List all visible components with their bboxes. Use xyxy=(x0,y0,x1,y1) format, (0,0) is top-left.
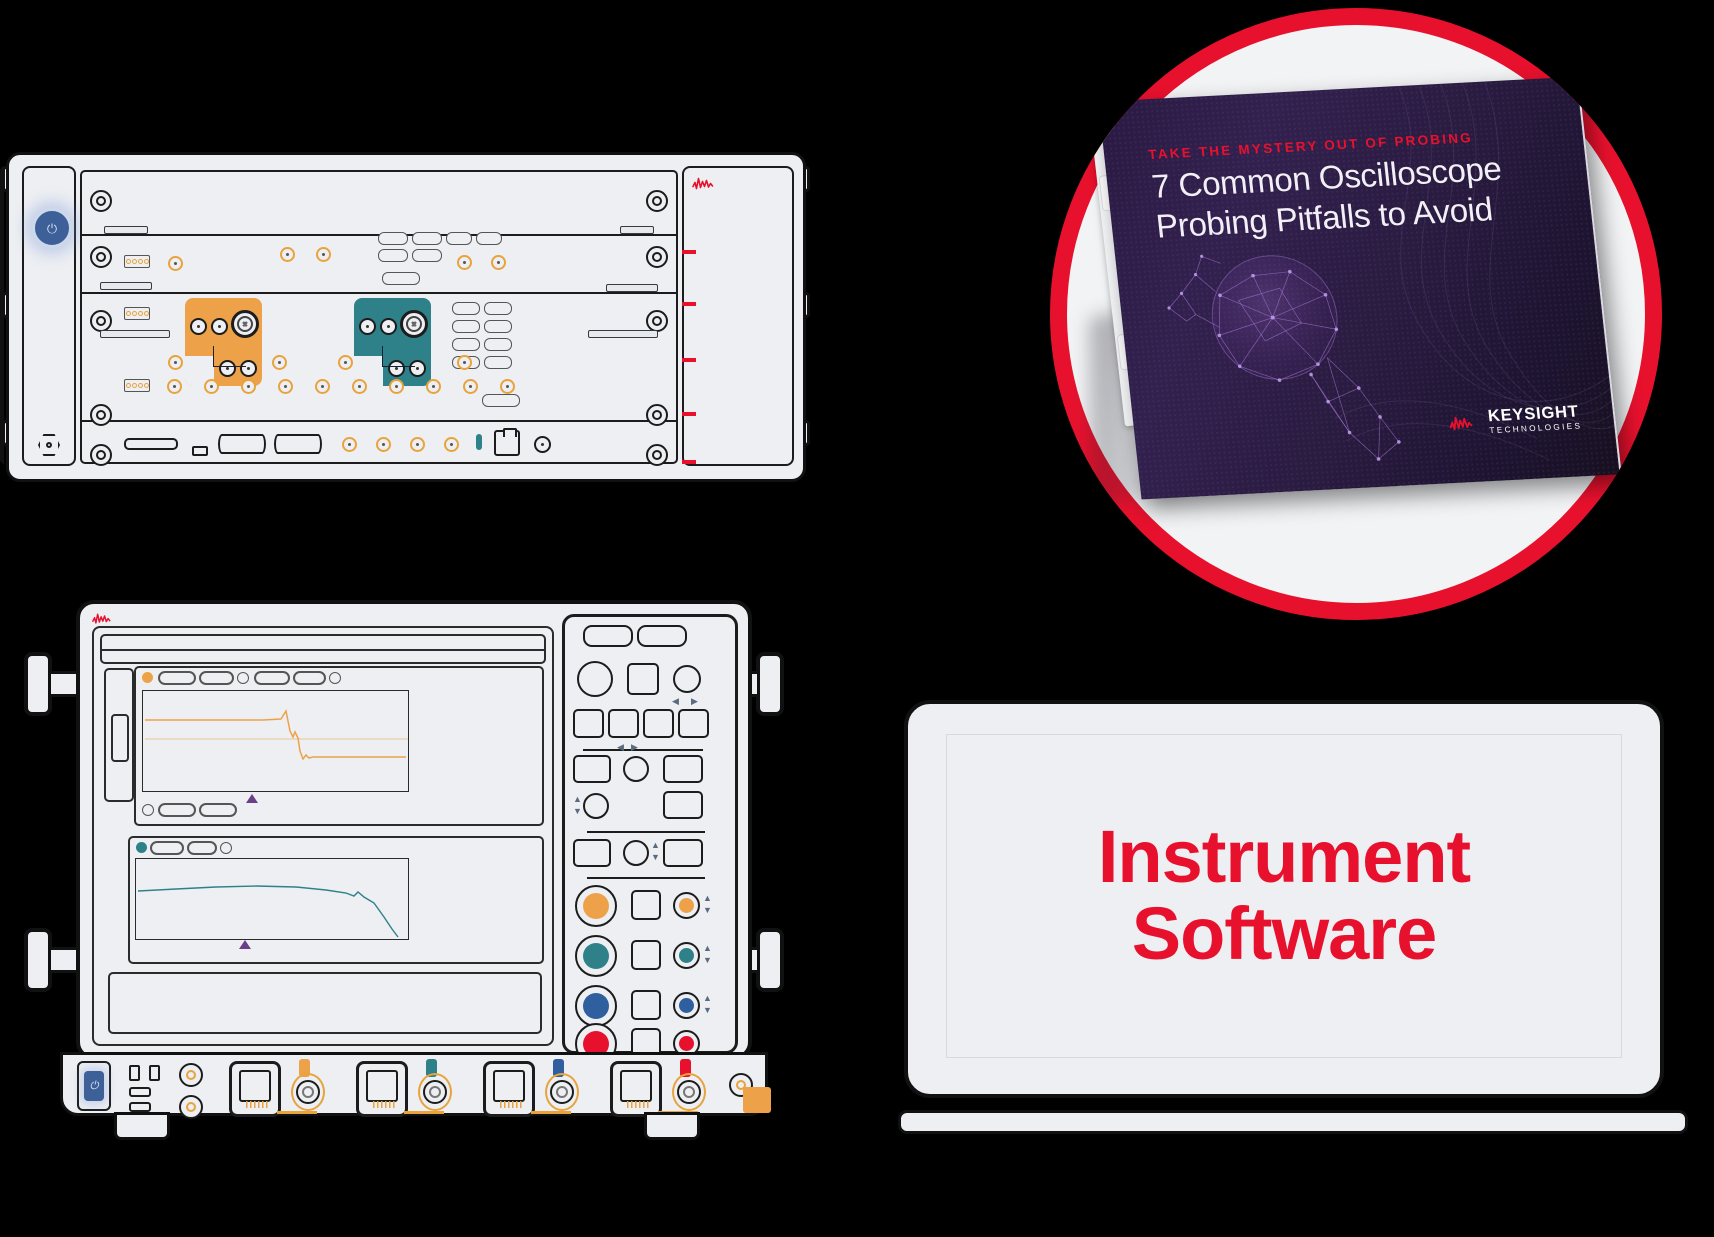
sma-connector[interactable] xyxy=(167,379,182,394)
display-tag[interactable] xyxy=(293,671,326,685)
panel-separator xyxy=(583,749,703,751)
channel-2-offset-knob[interactable] xyxy=(673,942,700,969)
panel-button[interactable] xyxy=(573,755,611,783)
rack-brand-panel xyxy=(682,166,794,466)
left-arrow-icon: ◀ xyxy=(617,743,624,752)
rotary-knob-small[interactable] xyxy=(623,840,649,866)
panel-button[interactable] xyxy=(663,791,703,819)
panel-separator xyxy=(587,831,705,833)
module-button[interactable] xyxy=(476,232,502,245)
channel-3-offset-knob[interactable] xyxy=(673,992,700,1019)
probe-interface-1[interactable] xyxy=(229,1061,281,1117)
faceplate-screw xyxy=(90,246,112,268)
panel-button[interactable] xyxy=(608,709,639,738)
channel-1-knob[interactable] xyxy=(575,885,617,927)
laptop-device[interactable]: Instrument Software xyxy=(898,700,1688,1140)
module-button[interactable] xyxy=(452,320,480,333)
module-button[interactable] xyxy=(484,356,512,369)
multipin-connector[interactable] xyxy=(231,310,259,338)
module-button[interactable] xyxy=(484,302,512,315)
up-arrow-icon: ▲ xyxy=(703,994,712,1003)
sma-connector[interactable] xyxy=(272,355,287,370)
display-statusbar[interactable] xyxy=(108,972,542,1034)
channel-2-color xyxy=(679,948,694,963)
power-icon: ⏻ xyxy=(84,1071,104,1101)
channel-1-trace xyxy=(277,1111,317,1114)
power-button[interactable]: ⏻ xyxy=(32,208,72,248)
hex-fastener xyxy=(38,434,60,456)
up-arrow-icon: ▲ xyxy=(573,795,582,804)
module-button[interactable] xyxy=(412,249,442,262)
channel-2-waveform xyxy=(136,859,408,939)
channel-3-color xyxy=(679,998,694,1013)
card-bnc-connector[interactable] xyxy=(380,318,397,335)
usb-port[interactable] xyxy=(149,1065,160,1081)
channel-4-color xyxy=(679,1036,694,1051)
composition-canvas: ⏻ xyxy=(0,0,1714,1237)
scope-front-io-strip: ⏻ xyxy=(60,1052,768,1116)
keysight-wave-logo xyxy=(92,612,118,626)
sma-connector[interactable] xyxy=(491,255,506,270)
usb-c-port[interactable] xyxy=(129,1102,151,1112)
sma-connector[interactable] xyxy=(389,379,404,394)
sma-connector[interactable] xyxy=(278,379,293,394)
sma-connector[interactable] xyxy=(316,247,331,262)
module-rail xyxy=(100,282,152,290)
softkey-button[interactable] xyxy=(583,625,633,647)
scope-foot-right xyxy=(644,1112,700,1140)
channel-1-button[interactable] xyxy=(631,890,661,920)
card-bnc-connector[interactable] xyxy=(359,318,376,335)
rack-tick-4 xyxy=(682,412,696,416)
module-button[interactable] xyxy=(484,338,512,351)
up-arrow-icon: ▲ xyxy=(703,894,712,903)
keysight-wave-icon xyxy=(1449,414,1483,433)
module-button[interactable] xyxy=(446,232,472,245)
oscilloscope[interactable]: ◀ ▶ ◀ ▶ ▲ ▼ ▲ ▼ xyxy=(24,600,784,1100)
rack-mounting-ear-left: ⏻ xyxy=(22,166,76,466)
d-sub-connector[interactable] xyxy=(218,434,266,454)
sma-connector[interactable] xyxy=(410,437,425,452)
sma-connector[interactable] xyxy=(500,379,515,394)
sma-connector[interactable] xyxy=(168,355,183,370)
module-rail xyxy=(104,226,148,234)
usb-c-port[interactable] xyxy=(129,1087,151,1097)
dip-switch-block[interactable] xyxy=(124,255,150,268)
channel-1-offset-knob[interactable] xyxy=(673,892,700,919)
io-small-tab xyxy=(192,446,208,456)
laptop-base xyxy=(898,1110,1688,1134)
sma-connector[interactable] xyxy=(444,437,459,452)
trigger-marker-lower xyxy=(239,940,251,949)
laptop-screen[interactable]: Instrument Software xyxy=(946,734,1622,1058)
channel-2-button[interactable] xyxy=(631,940,661,970)
scope-display[interactable] xyxy=(92,626,554,1046)
rotary-knob-small[interactable] xyxy=(673,665,701,693)
panel-separator xyxy=(587,877,705,879)
panel-button[interactable] xyxy=(573,839,611,867)
rack-tick-2 xyxy=(682,302,696,306)
orange-module-card[interactable] xyxy=(185,298,262,386)
aux-output-jack[interactable] xyxy=(179,1063,203,1087)
scope-control-panel[interactable]: ◀ ▶ ◀ ▶ ▲ ▼ ▲ ▼ xyxy=(562,614,738,1054)
power-button[interactable]: ⏻ xyxy=(77,1061,111,1111)
rack-divider-2 xyxy=(82,292,676,294)
usb-port[interactable] xyxy=(129,1065,140,1081)
module-button[interactable] xyxy=(452,302,480,315)
ebook-callout[interactable]: TAKE THE MYSTERY OUT OF PROBING 7 Common… xyxy=(1040,0,1700,640)
card-trace xyxy=(382,346,415,367)
lower-waveform-plot[interactable] xyxy=(135,858,409,940)
softkey-button[interactable] xyxy=(637,625,687,647)
trigger-output-jack[interactable] xyxy=(179,1095,203,1119)
dip-switch-block[interactable] xyxy=(124,379,150,392)
sma-connector[interactable] xyxy=(352,379,367,394)
sma-connector[interactable] xyxy=(457,355,472,370)
faceplate-screw xyxy=(646,246,668,268)
down-arrow-icon: ▼ xyxy=(703,906,712,915)
channel-3-trace xyxy=(531,1111,571,1114)
rotary-knob-small[interactable] xyxy=(623,756,649,782)
power-icon: ⏻ xyxy=(47,222,57,235)
display-tag[interactable] xyxy=(199,803,237,817)
rj45-port[interactable] xyxy=(494,430,520,456)
channel-2-knob[interactable] xyxy=(575,935,617,977)
panel-button[interactable] xyxy=(663,839,703,867)
sma-connector[interactable] xyxy=(168,256,183,271)
panel-button[interactable] xyxy=(663,755,703,783)
multipin-connector[interactable] xyxy=(400,310,428,338)
display-tag[interactable] xyxy=(158,671,196,685)
module-button[interactable] xyxy=(482,394,520,407)
module-button[interactable] xyxy=(378,249,408,262)
channel-1-indicator xyxy=(142,672,153,683)
panel-button[interactable] xyxy=(573,709,604,738)
panel-button[interactable] xyxy=(643,709,674,738)
sma-connector[interactable] xyxy=(280,247,295,262)
channel-3-knob[interactable] xyxy=(575,985,617,1027)
rack-tick-5 xyxy=(682,460,696,464)
probe-interface-2[interactable] xyxy=(356,1061,408,1117)
channel-1-orange-step xyxy=(145,711,406,759)
channel-3-button[interactable] xyxy=(631,990,661,1020)
keysight-wave-logo xyxy=(692,176,722,192)
rack-handle-right-bottom[interactable] xyxy=(756,928,784,992)
rotary-knob-small[interactable] xyxy=(583,793,609,819)
module-rail xyxy=(620,226,654,234)
card-bnc-connector[interactable] xyxy=(211,318,228,335)
rack-instrument[interactable]: ⏻ xyxy=(6,152,806,482)
module-button[interactable] xyxy=(378,232,408,245)
down-arrow-icon: ▼ xyxy=(703,956,712,965)
sma-connector[interactable] xyxy=(376,437,391,452)
faceplate-screw xyxy=(646,190,668,212)
module-button[interactable] xyxy=(382,272,420,285)
right-arrow-icon: ▶ xyxy=(691,697,698,706)
display-tag[interactable] xyxy=(199,671,234,685)
channel-1-color xyxy=(583,893,609,919)
card-trace xyxy=(213,346,246,367)
sma-connector[interactable] xyxy=(463,379,478,394)
sma-connector[interactable] xyxy=(241,379,256,394)
module-button[interactable] xyxy=(484,320,512,333)
module-button[interactable] xyxy=(452,338,480,351)
display-knob-indicator[interactable] xyxy=(220,842,232,854)
channel-2-color xyxy=(583,943,609,969)
display-menubar-divider xyxy=(100,649,546,651)
sma-connector[interactable] xyxy=(342,437,357,452)
sma-connector[interactable] xyxy=(457,255,472,270)
teal-module-card[interactable] xyxy=(354,298,431,386)
instrument-software-label: Instrument Software xyxy=(1098,819,1470,973)
software-label-line-2: Software xyxy=(1098,896,1470,973)
sma-connector[interactable] xyxy=(315,379,330,394)
rack-tick-1 xyxy=(682,250,696,254)
rack-tick-3 xyxy=(682,358,696,362)
faceplate-screw xyxy=(90,310,112,332)
laptop-lid: Instrument Software xyxy=(904,700,1664,1098)
sma-connector[interactable] xyxy=(426,379,441,394)
scope-chassis: ◀ ▶ ◀ ▶ ▲ ▼ ▲ ▼ xyxy=(76,600,752,1060)
d-sub-connector[interactable] xyxy=(124,438,178,450)
module-rail xyxy=(588,330,658,338)
display-knob-indicator[interactable] xyxy=(329,672,341,684)
dip-switch-block[interactable] xyxy=(124,307,150,320)
trigger-marker-upper xyxy=(246,794,258,803)
channel-1-color xyxy=(679,898,694,913)
scope-foot-left xyxy=(114,1112,170,1140)
probe-interface-4[interactable] xyxy=(610,1061,662,1117)
down-arrow-icon: ▼ xyxy=(651,853,660,862)
channel-3-color xyxy=(583,993,609,1019)
display-tag[interactable] xyxy=(158,803,196,817)
channel-1-waveform xyxy=(143,691,408,791)
display-knob-indicator[interactable] xyxy=(237,672,249,684)
display-knob-indicator[interactable] xyxy=(142,804,154,816)
channel-2-teal-decay xyxy=(138,886,398,937)
module-rail xyxy=(100,330,170,338)
up-arrow-icon: ▲ xyxy=(651,841,660,850)
bnc-input-1[interactable] xyxy=(291,1073,325,1111)
rack-handle-right-top[interactable] xyxy=(756,652,784,716)
io-round-port[interactable] xyxy=(534,436,551,453)
probe-interface-3[interactable] xyxy=(483,1061,535,1117)
bnc-input-2[interactable] xyxy=(418,1073,452,1111)
display-tag[interactable] xyxy=(254,671,290,685)
ebook-ring-clip: TAKE THE MYSTERY OUT OF PROBING 7 Common… xyxy=(1050,8,1662,620)
card-bnc-connector[interactable] xyxy=(190,318,207,335)
channel-2-trace xyxy=(404,1111,444,1114)
status-led xyxy=(476,434,482,450)
channel-2-indicator xyxy=(136,842,147,853)
calibration-block xyxy=(743,1087,771,1113)
software-label-line-1: Instrument xyxy=(1098,819,1470,896)
ebook-cover[interactable]: TAKE THE MYSTERY OUT OF PROBING 7 Common… xyxy=(1098,77,1621,500)
keysight-logo-text: KEYSIGHT TECHNOLOGIES xyxy=(1487,404,1583,435)
upper-waveform-plot[interactable] xyxy=(142,690,409,792)
bnc-input-3[interactable] xyxy=(545,1073,579,1111)
sma-connector[interactable] xyxy=(204,379,219,394)
faceplate-screw xyxy=(646,310,668,332)
module-button[interactable] xyxy=(412,232,442,245)
right-arrow-icon: ▶ xyxy=(631,743,638,752)
rotary-knob[interactable] xyxy=(577,661,613,697)
display-tag[interactable] xyxy=(150,841,184,855)
display-side-slider[interactable] xyxy=(111,714,129,762)
module-rail xyxy=(606,284,658,292)
up-arrow-icon: ▲ xyxy=(703,944,712,953)
left-arrow-icon: ◀ xyxy=(672,697,679,706)
down-arrow-icon: ▼ xyxy=(703,1006,712,1015)
rack-faceplate xyxy=(80,170,678,464)
display-tag[interactable] xyxy=(187,841,217,855)
bnc-input-4[interactable] xyxy=(672,1073,706,1111)
down-arrow-icon: ▼ xyxy=(573,807,582,816)
faceplate-screw xyxy=(90,190,112,212)
d-sub-connector[interactable] xyxy=(274,434,322,454)
panel-button[interactable] xyxy=(678,709,709,738)
sma-connector[interactable] xyxy=(338,355,353,370)
panel-button[interactable] xyxy=(627,663,659,695)
